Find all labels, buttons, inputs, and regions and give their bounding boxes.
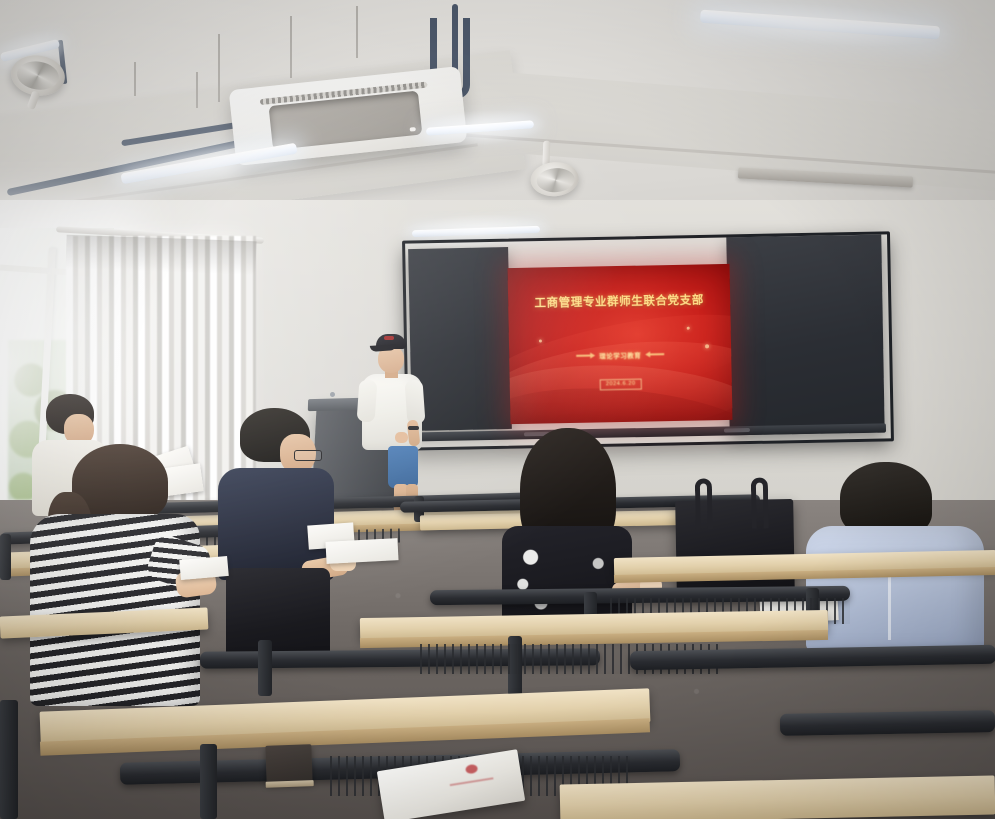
curtain-top-shading [65,235,256,276]
fluorescent-light-2 [700,10,940,40]
slide-dash-left-icon [576,355,592,357]
slide-subtitle: 理论学习教育 [599,350,641,361]
tray-marker-2 [724,428,750,432]
slide-particle-3 [539,339,542,342]
pipe-hanger-2 [196,72,198,108]
presenter-sleeve-right [404,379,425,424]
notebook [265,744,312,784]
attendee-navy-polo-lower [226,568,330,660]
attendee-blue-shirt-hair [840,462,932,536]
classroom-photo: 工商管理专业群师生联合党支部 理论学习教育 2024.6.20 [0,0,995,819]
slide-title: 工商管理专业群师生联合党支部 [508,291,730,311]
ac-hanger-2 [290,16,292,78]
desk-post-4a [258,640,272,696]
slide-dash-right-icon [648,353,664,355]
presenter-person [358,334,428,512]
presenter-shorts [388,446,418,488]
presenter-sleeve-left [357,379,378,422]
booklet-red-mark [465,764,478,775]
presenter-cap-logo [384,336,394,340]
ac-hanger-3 [356,6,358,58]
presenter-hand-left [395,432,408,443]
presenter-wristwatch [408,426,419,430]
conduit-drop [452,4,458,74]
desk-post-2a [0,534,11,580]
booklet-red-line [450,777,494,786]
fan-blades-left [15,59,60,93]
ac-hanger-1 [218,34,220,102]
eyeglasses-icon [294,450,322,461]
tote-bag-handle-right [751,477,769,528]
slide-particle-1 [687,327,690,330]
projection-screen: 工商管理专业群师生联合党支部 理论学习教育 2024.6.20 [508,264,733,424]
slide-date: 2024.6.20 [600,378,642,390]
handout-paper-6 [179,556,229,580]
podium-indicator-icon [330,392,335,397]
desk-post-5a [0,700,18,819]
pipe-hanger-1 [134,62,136,96]
handout-paper-4 [325,538,398,564]
desk-post-5b [200,744,217,819]
tote-bag-handle-left [695,478,713,529]
fan-blades-right [536,167,576,194]
seat-back-bar-5r [780,710,995,736]
